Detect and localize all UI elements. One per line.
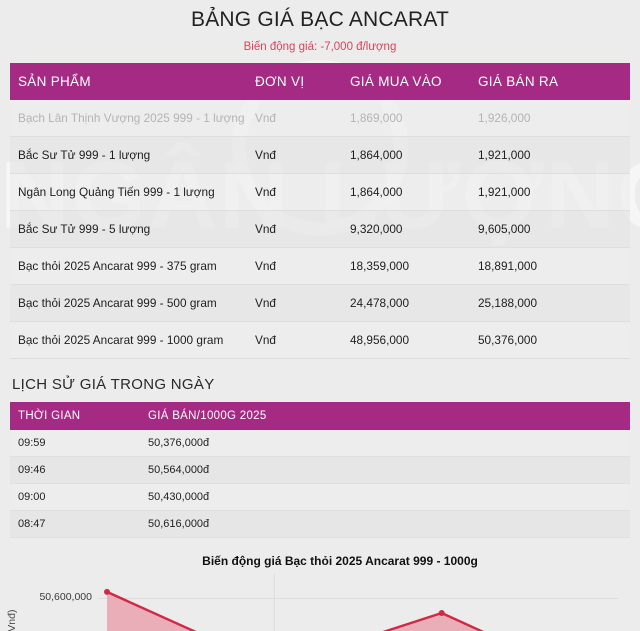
history-header-row: THỜI GIAN GIÁ BÁN/1000G 2025: [10, 402, 630, 430]
col-header-buy: GIÁ MUA VÀO: [350, 63, 478, 100]
chart-title: Biến động giá Bạc thỏi 2025 Ancarat 999 …: [0, 554, 640, 568]
cell-history-price: 50,564,000đ: [140, 457, 630, 484]
cell-history-price: 50,616,000đ: [140, 511, 630, 538]
cell-product: Bạch Lân Thịnh Vượng 2025 999 - 1 lượng: [10, 100, 255, 137]
cell-product: Ngân Long Quảng Tiến 999 - 1 lượng: [10, 174, 255, 211]
cell-product: Bạc thỏi 2025 Ancarat 999 - 375 gram: [10, 248, 255, 285]
chart-svg: [98, 574, 618, 631]
list-item: 09:5950,376,000đ: [10, 430, 630, 457]
price-table-wrapper: SẢN PHẨM ĐƠN VỊ GIÁ MUA VÀO GIÁ BÁN RA B…: [10, 63, 630, 359]
cell-sell-price: 25,188,000: [478, 285, 630, 322]
col-header-product: SẢN PHẨM: [10, 63, 255, 100]
cell-sell-price: 50,376,000: [478, 322, 630, 359]
cell-sell-price: 1,921,000: [478, 137, 630, 174]
cell-buy-price: 48,956,000: [350, 322, 478, 359]
cell-unit: Vnđ: [255, 285, 350, 322]
cell-sell-price: 9,605,000: [478, 211, 630, 248]
list-item: 09:0050,430,000đ: [10, 484, 630, 511]
cell-time: 09:00: [10, 484, 140, 511]
cell-product: Bạc thỏi 2025 Ancarat 999 - 1000 gram: [10, 322, 255, 359]
cell-buy-price: 1,864,000: [350, 137, 478, 174]
cell-time: 09:59: [10, 430, 140, 457]
cell-time: 08:47: [10, 511, 140, 538]
table-row: Bạc thỏi 2025 Ancarat 999 - 1000 gramVnđ…: [10, 322, 630, 359]
table-row: Bạc thỏi 2025 Ancarat 999 - 375 gramVnđ1…: [10, 248, 630, 285]
price-table-header: SẢN PHẨM ĐƠN VỊ GIÁ MUA VÀO GIÁ BÁN RA: [10, 63, 630, 100]
table-row: Bắc Sư Tử 999 - 1 lượngVnđ1,864,0001,921…: [10, 137, 630, 174]
col-header-sell-price: GIÁ BÁN/1000G 2025: [140, 402, 630, 430]
cell-unit: Vnđ: [255, 174, 350, 211]
chart-y-ticks: 50,600,00050,500,00050,400,000: [0, 574, 92, 631]
history-table-body: 09:5950,376,000đ09:4650,564,000đ09:0050,…: [10, 430, 630, 538]
list-item: 08:4750,616,000đ: [10, 511, 630, 538]
price-board-page: NGÂN LƯỢNG BẢNG GIÁ BẠC ANCARAT Biến độn…: [0, 0, 640, 631]
cell-buy-price: 1,869,000: [350, 100, 478, 137]
cell-unit: Vnđ: [255, 248, 350, 285]
history-table: THỜI GIAN GIÁ BÁN/1000G 2025 09:5950,376…: [10, 402, 630, 538]
history-table-wrapper: THỜI GIAN GIÁ BÁN/1000G 2025 09:5950,376…: [10, 402, 630, 538]
cell-unit: Vnđ: [255, 137, 350, 174]
page-title: BẢNG GIÁ BẠC ANCARAT: [0, 0, 640, 32]
price-table-body: Bạch Lân Thịnh Vượng 2025 999 - 1 lượngV…: [10, 100, 630, 359]
price-chart: Biến động giá Bạc thỏi 2025 Ancarat 999 …: [0, 554, 640, 631]
price-change-note: Biến động giá: -7,000 đ/lượng: [0, 32, 640, 63]
cell-time: 09:46: [10, 457, 140, 484]
cell-buy-price: 9,320,000: [350, 211, 478, 248]
cell-product: Bắc Sư Tử 999 - 5 lượng: [10, 211, 255, 248]
history-table-header: THỜI GIAN GIÁ BÁN/1000G 2025: [10, 402, 630, 430]
chart-y-tick-label: 50,600,000: [39, 591, 92, 603]
price-table: SẢN PHẨM ĐƠN VỊ GIÁ MUA VÀO GIÁ BÁN RA B…: [10, 63, 630, 359]
chart-series-area: 09:00: [98, 574, 618, 631]
cell-buy-price: 18,359,000: [350, 248, 478, 285]
cell-product: Bắc Sư Tử 999 - 1 lượng: [10, 137, 255, 174]
chart-plot-area: Giá (Vnđ) 50,600,00050,500,00050,400,000…: [0, 574, 640, 631]
cell-sell-price: 18,891,000: [478, 248, 630, 285]
history-heading: LỊCH SỬ GIÁ TRONG NGÀY: [12, 376, 640, 393]
cell-unit: Vnđ: [255, 211, 350, 248]
price-header-row: SẢN PHẨM ĐƠN VỊ GIÁ MUA VÀO GIÁ BÁN RA: [10, 63, 630, 100]
cell-product: Bạc thỏi 2025 Ancarat 999 - 500 gram: [10, 285, 255, 322]
cell-buy-price: 24,478,000: [350, 285, 478, 322]
cell-sell-price: 1,921,000: [478, 174, 630, 211]
table-row: Bạc thỏi 2025 Ancarat 999 - 500 gramVnđ2…: [10, 285, 630, 322]
table-row: Bạch Lân Thịnh Vượng 2025 999 - 1 lượngV…: [10, 100, 630, 137]
list-item: 09:4650,564,000đ: [10, 457, 630, 484]
cell-history-price: 50,376,000đ: [140, 430, 630, 457]
cell-history-price: 50,430,000đ: [140, 484, 630, 511]
table-row: Ngân Long Quảng Tiến 999 - 1 lượngVnđ1,8…: [10, 174, 630, 211]
col-header-unit: ĐƠN VỊ: [255, 63, 350, 100]
cell-buy-price: 1,864,000: [350, 174, 478, 211]
col-header-sell: GIÁ BÁN RA: [478, 63, 630, 100]
table-row: Bắc Sư Tử 999 - 5 lượngVnđ9,320,0009,605…: [10, 211, 630, 248]
cell-unit: Vnđ: [255, 322, 350, 359]
cell-sell-price: 1,926,000: [478, 100, 630, 137]
col-header-time: THỜI GIAN: [10, 402, 140, 430]
cell-unit: Vnđ: [255, 100, 350, 137]
